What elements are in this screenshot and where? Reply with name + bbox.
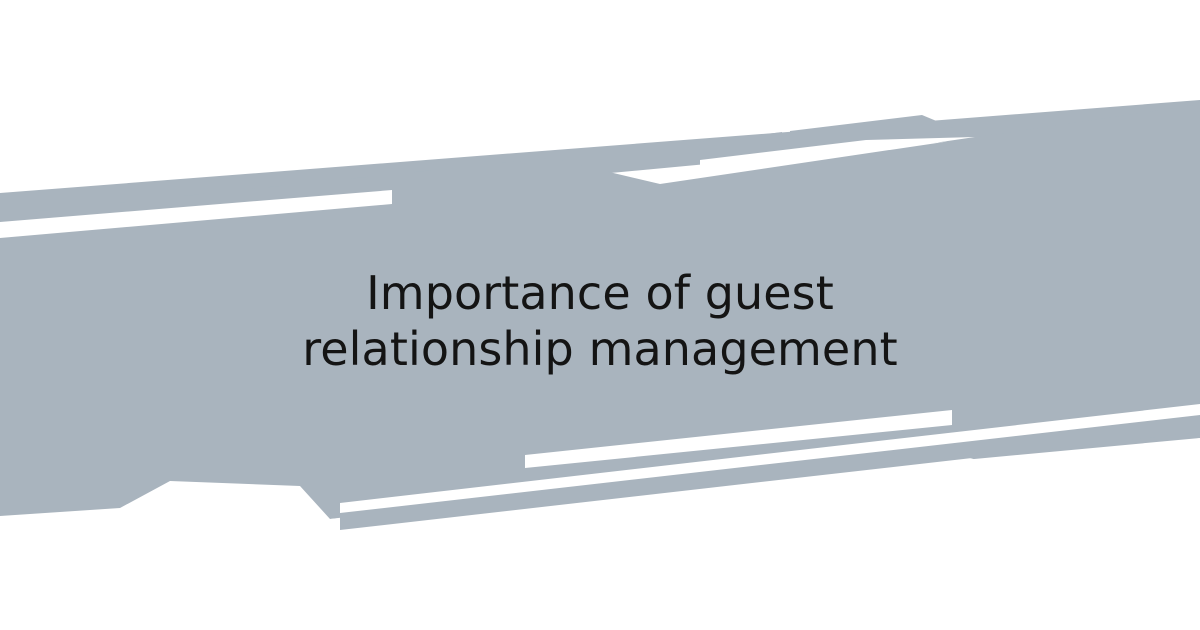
dash-square-2 [718, 137, 730, 156]
banner-canvas: Importance of guest relationship managem… [0, 0, 1200, 630]
banner-decoration-artwork [0, 0, 1200, 630]
dash-square-1 [700, 140, 712, 158]
